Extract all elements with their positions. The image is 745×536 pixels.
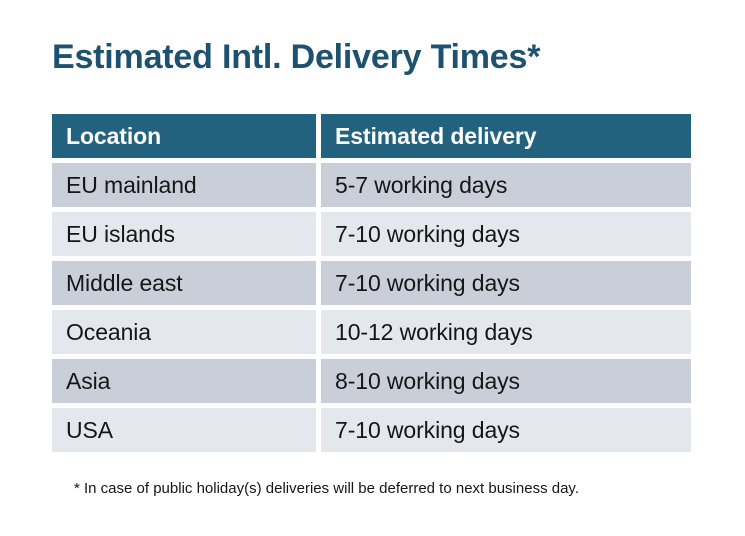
cell-location: USA: [52, 408, 316, 452]
cell-location: EU mainland: [52, 163, 316, 207]
table-row: Asia 8-10 working days: [52, 359, 691, 403]
table-row: Middle east 7-10 working days: [52, 261, 691, 305]
table-header: Location Estimated delivery: [52, 114, 691, 158]
table-row: Oceania 10-12 working days: [52, 310, 691, 354]
table-row: USA 7-10 working days: [52, 408, 691, 452]
cell-delivery: 7-10 working days: [321, 261, 691, 305]
cell-location: Asia: [52, 359, 316, 403]
cell-delivery: 7-10 working days: [321, 212, 691, 256]
cell-delivery: 8-10 working days: [321, 359, 691, 403]
cell-delivery: 7-10 working days: [321, 408, 691, 452]
footnote-text: * In case of public holiday(s) deliverie…: [74, 478, 579, 500]
column-header-estimated-delivery: Estimated delivery: [321, 114, 691, 158]
table-header-row: Location Estimated delivery: [52, 114, 691, 158]
cell-location: Middle east: [52, 261, 316, 305]
cell-location: Oceania: [52, 310, 316, 354]
table-row: EU islands 7-10 working days: [52, 212, 691, 256]
delivery-times-page: Estimated Intl. Delivery Times* Location…: [0, 0, 745, 536]
column-header-location: Location: [52, 114, 316, 158]
cell-location: EU islands: [52, 212, 316, 256]
table-body: EU mainland 5-7 working days EU islands …: [52, 163, 691, 452]
table-row: EU mainland 5-7 working days: [52, 163, 691, 207]
page-title: Estimated Intl. Delivery Times*: [52, 36, 540, 78]
cell-delivery: 10-12 working days: [321, 310, 691, 354]
delivery-times-table: Location Estimated delivery EU mainland …: [47, 109, 696, 457]
cell-delivery: 5-7 working days: [321, 163, 691, 207]
